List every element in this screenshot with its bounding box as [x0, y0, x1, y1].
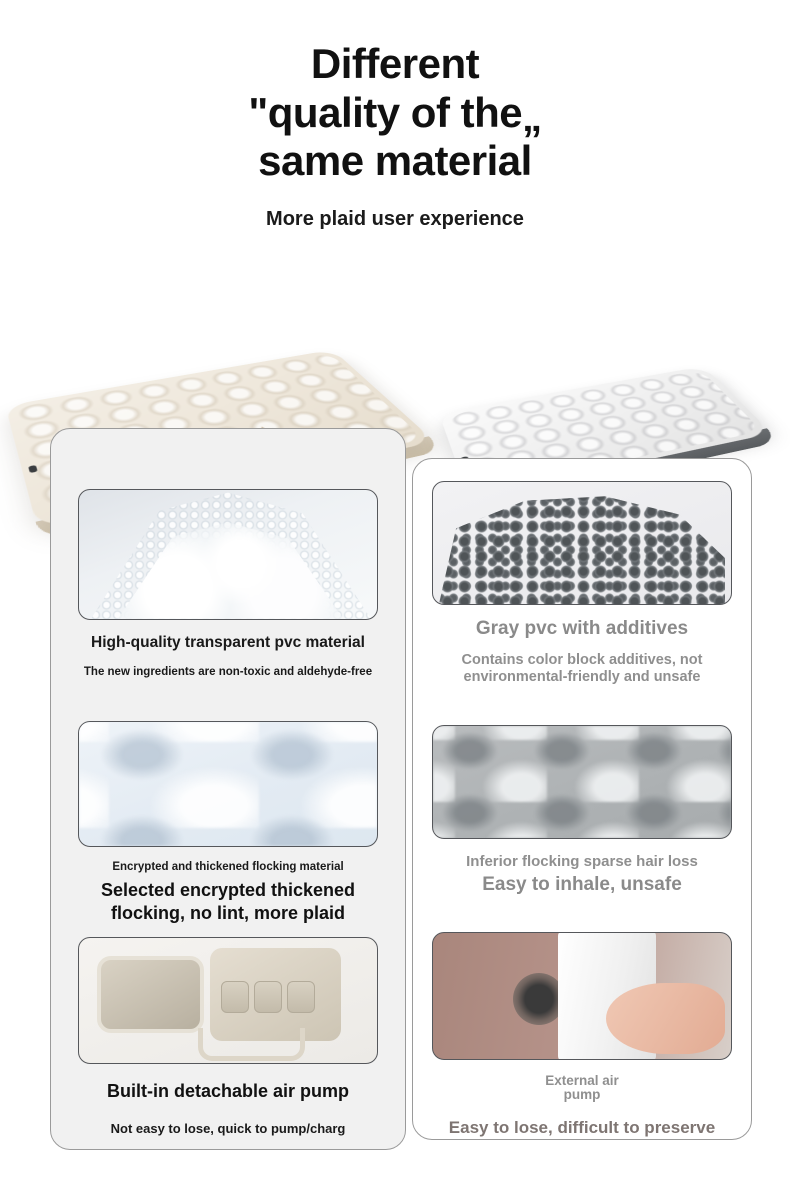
ours-flocking-caption: Encrypted and thickened flocking materia… [51, 861, 405, 873]
competitor-material-caption-line2: environmental-friendly and unsafe [413, 669, 751, 686]
ours-material-title: High-quality transparent pvc material [51, 634, 405, 652]
gray-flocking-texture-photo [432, 725, 732, 839]
pump-handle [198, 1028, 305, 1061]
competitor-block-pump: External air pump Easy to lose, difficul… [413, 932, 751, 1138]
competitor-material-title: Gray pvc with additives [413, 618, 751, 640]
page-headline: Different "quality of the„ same material [0, 0, 790, 186]
competitor-pump-caption: Easy to lose, difficult to preserve [413, 1118, 751, 1138]
ours-flocking-title: Selected encrypted thickened [51, 879, 405, 902]
pump-button-group [221, 981, 315, 1012]
transparent-pvc-pellets-photo [78, 489, 378, 620]
pump-button-1 [221, 981, 249, 1012]
pump-lid [97, 956, 204, 1034]
gray-pvc-pellets-photo [432, 481, 732, 605]
external-pump-photo [432, 932, 732, 1060]
pump-unit [210, 948, 341, 1041]
hand-holding-pump [606, 983, 725, 1054]
close-quote: „ [522, 95, 542, 141]
valve-icon [28, 465, 38, 473]
ours-flocking-title-line2: flocking, no lint, more plaid [51, 902, 405, 925]
competitor-block-flocking: Inferior flocking sparse hair loss Easy … [413, 725, 751, 897]
competitor-flocking-caption: Inferior flocking sparse hair loss [413, 853, 751, 870]
competitor-pump-title: External air [413, 1074, 751, 1088]
headline-line-2-text: quality of the [268, 89, 522, 136]
competitor-block-material: Gray pvc with additives Contains color b… [413, 481, 751, 686]
ours-material-caption: The new ingredients are non-toxic and al… [51, 666, 405, 678]
white-flocking-texture-photo [78, 721, 378, 847]
competitor-pump-title-line2: pump [413, 1088, 751, 1102]
headline-line-3: same material [0, 137, 790, 186]
ours-block-flocking: Encrypted and thickened flocking materia… [51, 721, 405, 924]
built-in-pump-photo [78, 937, 378, 1064]
competitor-material-caption: Contains color block additives, not [413, 652, 751, 669]
ours-pump-caption: Not easy to lose, quick to pump/charg [51, 1121, 405, 1136]
header: Different "quality of the„ same material… [0, 0, 790, 231]
pump-button-3 [287, 981, 315, 1012]
headline-line-2: "quality of the„ [0, 89, 790, 138]
pump-button-2 [254, 981, 282, 1012]
page-subheadline: More plaid user experience [0, 208, 790, 231]
comparison-card-ours: High-quality transparent pvc material Th… [50, 428, 406, 1150]
ours-block-material: High-quality transparent pvc material Th… [51, 489, 405, 678]
headline-line-1: Different [0, 40, 790, 89]
ours-block-pump: Built-in detachable air pump Not easy to… [51, 937, 405, 1136]
ours-pump-title: Built-in detachable air pump [51, 1080, 405, 1103]
open-quote: " [248, 89, 267, 136]
competitor-flocking-title: Easy to inhale, unsafe [413, 874, 751, 897]
comparison-card-competitor: Gray pvc with additives Contains color b… [412, 458, 752, 1140]
